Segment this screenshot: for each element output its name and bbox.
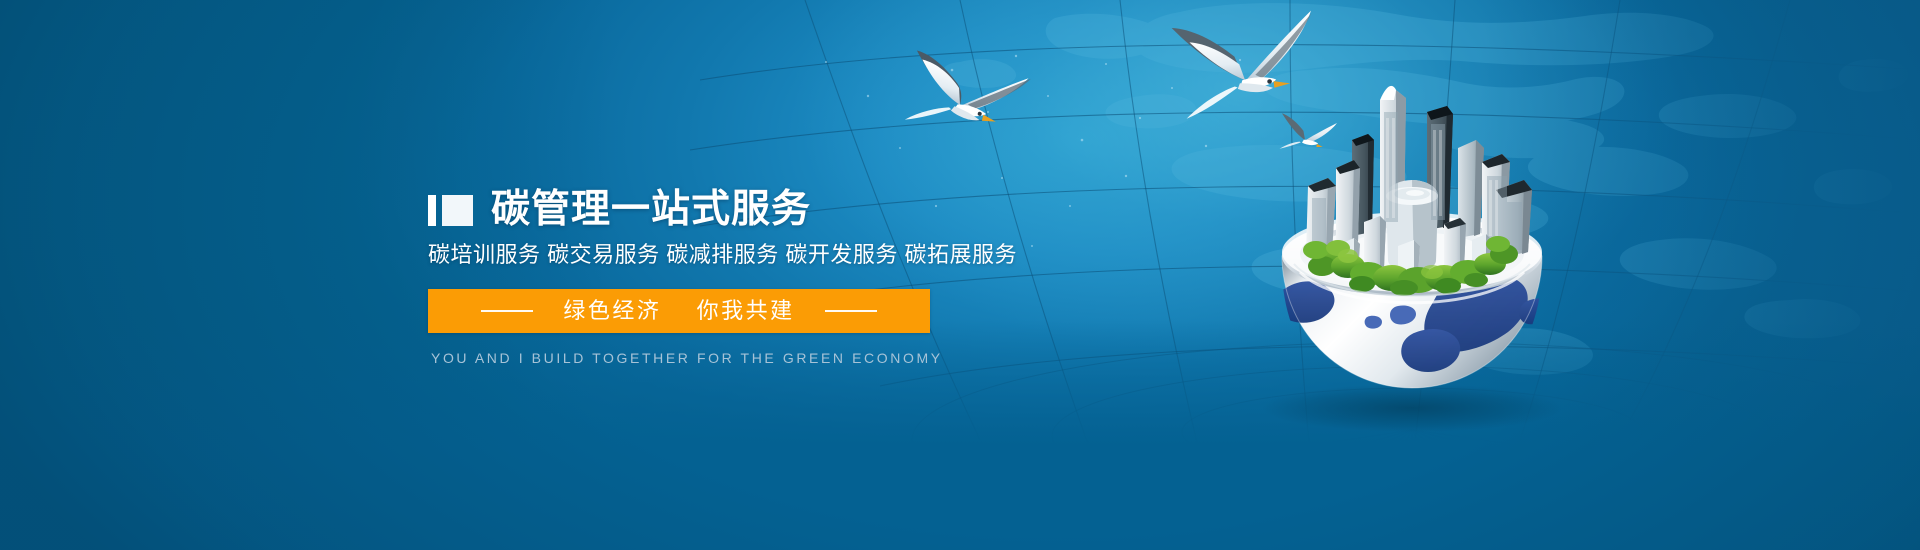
title-row: 碳管理一站式服务 <box>428 188 1017 232</box>
slogan-secondary: 你我共建 <box>697 298 795 323</box>
brand-mark <box>428 195 473 226</box>
square-icon <box>442 195 473 226</box>
page-title: 碳管理一站式服务 <box>491 190 811 230</box>
slogan-banner: 绿色经济 你我共建 <box>428 289 930 333</box>
slogan-left-rule <box>481 310 533 312</box>
carbon-management-banner: 碳管理一站式服务 碳培训服务 碳交易服务 碳减排服务 碳开发服务 碳拓展服务 绿… <box>0 0 1920 550</box>
slogan-right-rule <box>825 310 877 312</box>
slogan-text: 绿色经济 你我共建 <box>563 300 794 322</box>
headline-block: 碳管理一站式服务 碳培训服务 碳交易服务 碳减排服务 碳开发服务 碳拓展服务 绿… <box>428 188 1017 366</box>
vertical-bar-icon <box>428 195 436 226</box>
slogan-primary: 绿色经济 <box>563 298 661 323</box>
service-list: 碳培训服务 碳交易服务 碳减排服务 碳开发服务 碳拓展服务 <box>428 243 1017 267</box>
english-tagline: YOU AND I BUILD TOGETHER FOR THE GREEN E… <box>431 350 1017 366</box>
